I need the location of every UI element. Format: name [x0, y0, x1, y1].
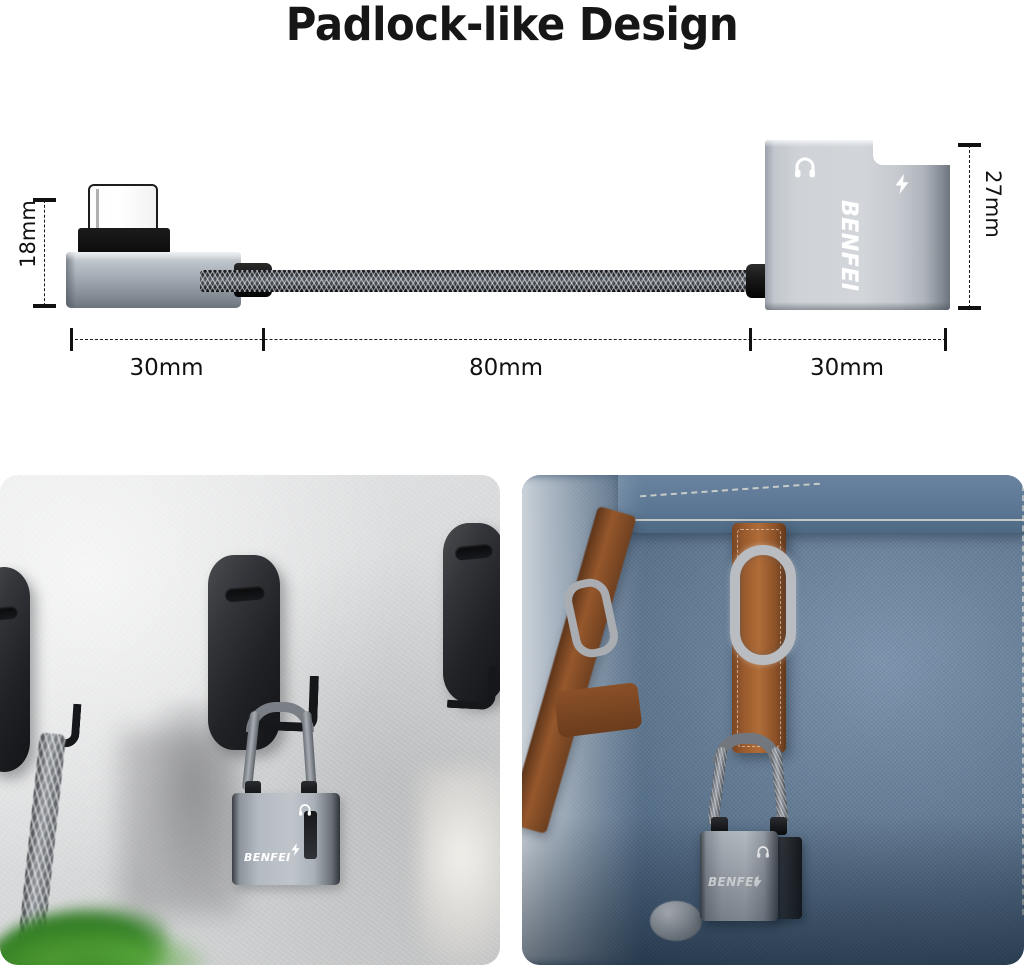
headphone-icon [298, 803, 312, 816]
infographic-page: Padlock-like Design 18mm 27mm [0, 0, 1024, 965]
product-dimension-diagram: 18mm 27mm [0, 0, 1024, 460]
blurred-object-right [418, 767, 500, 965]
denim-bottom-shadow [522, 815, 1024, 965]
dimension-line-right-vertical [969, 145, 970, 308]
usb-c-tip [88, 184, 158, 232]
stitch-line-horizontal [622, 519, 1024, 521]
dimension-tick-2 [749, 328, 752, 351]
adapter-port [304, 811, 317, 859]
dimension-tick-0 [70, 328, 73, 351]
headphone-icon [793, 156, 817, 178]
dimension-line-horizontal [70, 339, 946, 340]
dimension-tick-3 [944, 328, 947, 351]
adapter-step-notch [873, 139, 951, 165]
cable-shackle-right [301, 711, 317, 792]
lightning-bolt-icon [290, 843, 301, 856]
hook-slot [0, 605, 19, 621]
adapter-cast-shadow [120, 730, 240, 915]
dimension-label-height-right: 27mm [981, 159, 1005, 249]
denim-flap [618, 475, 1024, 533]
brand-logo-benfei: BENFEI [244, 851, 291, 864]
lightning-bolt-icon [893, 174, 911, 194]
usb-c-collar [78, 228, 170, 254]
cable-shackle-left [242, 711, 260, 792]
dimension-label-height-left: 18mm [16, 189, 40, 279]
carabiner-clip [730, 545, 796, 665]
braided-nylon-cable [200, 270, 760, 292]
cable-shackle-left [707, 747, 727, 826]
dimension-label-right-connector: 30mm [749, 355, 945, 381]
adapter-housing: BENFEI [765, 140, 950, 310]
hook-arm-right [447, 664, 497, 710]
lifestyle-photo-row: BENFEI [0, 475, 1024, 965]
brand-logo-benfei: BENFEI [836, 200, 861, 320]
adapter-on-hook: BENFEI [232, 711, 340, 886]
hook-slot [454, 543, 493, 561]
adapter-top-highlight [765, 140, 877, 147]
adapter-body [232, 793, 340, 885]
dimension-label-left-connector: 30mm [70, 355, 263, 381]
wall-hook-left [0, 567, 30, 772]
hook-slot [224, 585, 265, 602]
photo-wall-hook: BENFEI [0, 475, 500, 965]
dimension-label-cable: 80mm [262, 355, 750, 381]
cable-shackle-right [770, 747, 789, 826]
dimension-cap-bottom-right [958, 306, 981, 310]
dimension-cap-bottom-left [33, 304, 56, 308]
photo-denim-bag: BENFEI [522, 475, 1024, 965]
dimension-tick-1 [262, 328, 265, 351]
dimension-line-left-vertical [44, 200, 45, 306]
